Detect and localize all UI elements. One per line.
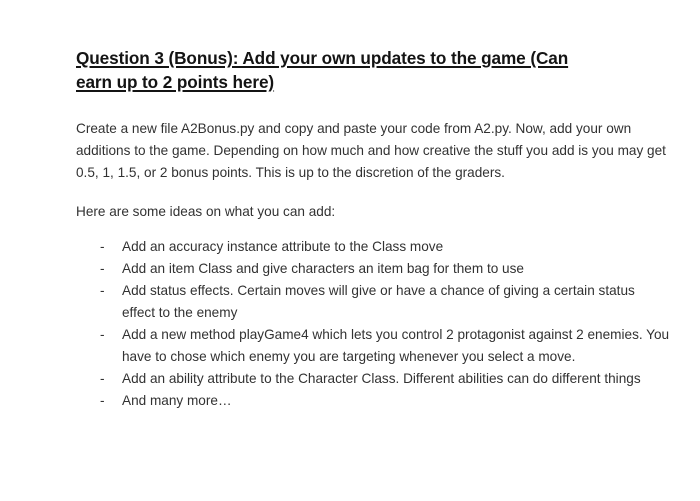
bullet-dash-icon: - (100, 258, 105, 280)
page-title: Question 3 (Bonus): Add your own updates… (76, 46, 670, 94)
bullet-dash-icon: - (100, 368, 105, 390)
list-item-label: And many more… (122, 390, 670, 412)
list-item: - Add an accuracy instance attribute to … (76, 236, 670, 258)
list-item: - Add an item Class and give characters … (76, 258, 670, 280)
page-title-line-1: Question 3 (Bonus): Add your own updates… (76, 48, 568, 68)
bullet-dash-icon: - (100, 324, 105, 346)
bullet-dash-icon: - (100, 280, 105, 302)
bullet-dash-icon: - (100, 390, 105, 412)
list-item-label: Add status effects. Certain moves will g… (122, 280, 670, 324)
list-item-label: Add an ability attribute to the Characte… (122, 368, 670, 390)
list-item: - Add status effects. Certain moves will… (76, 280, 670, 324)
list-item-label: Add a new method playGame4 which lets yo… (122, 324, 670, 368)
page-title-line-2: earn up to 2 points here) (76, 72, 274, 92)
ideas-lead-in: Here are some ideas on what you can add: (76, 201, 670, 223)
document-content: Question 3 (Bonus): Add your own updates… (76, 46, 670, 412)
document-page: Question 3 (Bonus): Add your own updates… (0, 0, 700, 501)
bullet-dash-icon: - (100, 236, 105, 258)
list-item: - Add a new method playGame4 which lets … (76, 324, 670, 368)
list-item-label: Add an accuracy instance attribute to th… (122, 236, 670, 258)
list-item-label: Add an item Class and give characters an… (122, 258, 670, 280)
list-item: - Add an ability attribute to the Charac… (76, 368, 670, 390)
ideas-list: - Add an accuracy instance attribute to … (76, 236, 670, 412)
intro-paragraph: Create a new file A2Bonus.py and copy an… (76, 118, 670, 184)
list-item: - And many more… (76, 390, 670, 412)
